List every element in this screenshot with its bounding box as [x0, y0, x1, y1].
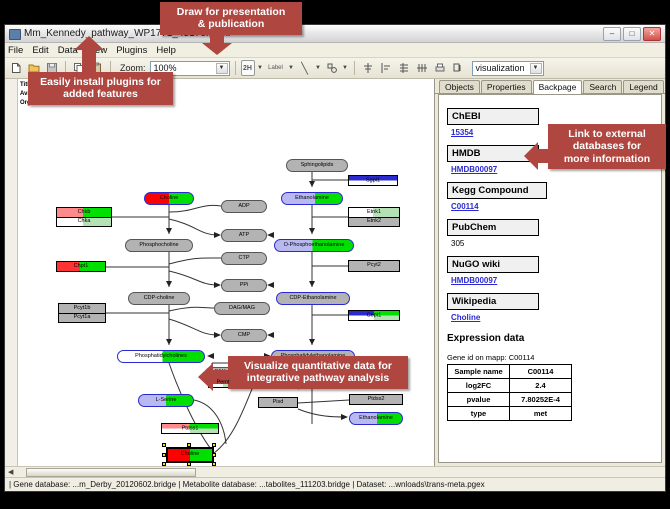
- node-atp[interactable]: ATP: [221, 229, 267, 242]
- node-ethanolamine-top[interactable]: Ethanolamine: [281, 192, 343, 205]
- node-ptdss2[interactable]: Ptdss2: [349, 394, 403, 405]
- shape-dropdown-icon[interactable]: ▼: [342, 65, 349, 71]
- gene-id-line: Gene id on mapp: C00114: [447, 353, 653, 362]
- menu-file[interactable]: File: [8, 45, 23, 56]
- resize-handle-nw[interactable]: [162, 443, 166, 447]
- table-row: pvalue 7.80252E-4: [448, 393, 572, 407]
- cell-value: 2.4: [510, 379, 572, 393]
- toolbar-separator-3: [235, 61, 236, 75]
- node-o-phosphoethanolamine[interactable]: O-Phosphoethanolamine: [274, 239, 354, 252]
- cell-value: 7.80252E-4: [510, 393, 572, 407]
- node-chpt1[interactable]: Chpt1: [56, 261, 106, 272]
- menu-edit[interactable]: Edit: [32, 45, 48, 56]
- table-row: type met: [448, 407, 572, 421]
- node-label: Phosphocholine: [139, 243, 178, 249]
- vertical-ruler: [5, 79, 18, 466]
- table-row: log2FC 2.4: [448, 379, 572, 393]
- callout-visualize-arrow: [198, 362, 230, 392]
- expression-data-heading: Expression data: [447, 333, 653, 344]
- node-label: Cept1: [367, 313, 382, 319]
- editor-pane: Title: Availa Organ: [5, 79, 435, 466]
- stack-icon[interactable]: [396, 60, 412, 76]
- callout-plugins-arrow: [72, 36, 106, 76]
- card-nugo-wiki: NuGO wiki: [447, 256, 539, 273]
- node-ppi[interactable]: PPi: [221, 279, 267, 292]
- line-dropdown-icon[interactable]: ▼: [315, 65, 322, 71]
- shape-tool-icon[interactable]: [324, 60, 340, 76]
- expression-table: Sample name C00114 log2FC 2.4 pvalue 7.8…: [447, 364, 572, 421]
- node-chkb[interactable]: Chkb: [56, 207, 112, 217]
- node-cdp-choline[interactable]: CDP-choline: [128, 292, 190, 305]
- callout-draw: Draw for presentation & publication: [160, 2, 302, 35]
- node-label: Etnk1: [367, 210, 381, 216]
- order-icon[interactable]: [450, 60, 466, 76]
- datanode-icon[interactable]: 2H: [241, 60, 255, 76]
- scroll-left-icon[interactable]: ◀: [5, 468, 16, 476]
- tab-legend[interactable]: Legend: [623, 80, 663, 93]
- node-phosphocholine[interactable]: Phosphocholine: [125, 239, 193, 252]
- menu-help[interactable]: Help: [156, 45, 176, 56]
- node-adp[interactable]: ADP: [221, 200, 267, 213]
- node-phosphatidylcholines[interactable]: Phosphatidylcholines: [117, 350, 205, 363]
- tab-backpage[interactable]: Backpage: [533, 80, 583, 94]
- label-tool-button[interactable]: Label: [266, 60, 286, 76]
- callout-visualize: Visualize quantitative data for integrat…: [228, 356, 408, 389]
- align-center-icon[interactable]: [360, 60, 376, 76]
- resize-handle-s[interactable]: [187, 462, 191, 466]
- pathway-edges: [18, 79, 434, 466]
- node-pisd[interactable]: Pisd: [258, 397, 298, 408]
- node-label: CDP-choline: [144, 296, 175, 302]
- cell-key: Sample name: [448, 365, 510, 379]
- cell-value: C00114: [510, 365, 572, 379]
- status-text: | Gene database: ...m_Derby_20120602.bri…: [9, 480, 485, 489]
- chevron-down-icon[interactable]: ▼: [216, 63, 228, 74]
- callout-text: Visualize quantitative data for integrat…: [244, 360, 392, 384]
- node-label: Ethanolamine: [359, 416, 393, 422]
- node-label: Ptdss1: [182, 426, 199, 432]
- tab-properties[interactable]: Properties: [481, 80, 532, 93]
- close-button[interactable]: ✕: [643, 27, 661, 41]
- resize-handle-w[interactable]: [162, 453, 166, 457]
- card-wikipedia: Wikipedia: [447, 293, 539, 310]
- line-tool-icon[interactable]: ╲: [297, 60, 313, 76]
- pathway-canvas[interactable]: Title: Availa Organ: [18, 79, 434, 466]
- node-l-serine-left[interactable]: L-Serine: [138, 394, 194, 407]
- node-sphingolipids[interactable]: Sphingolipids: [286, 159, 348, 172]
- node-label: Pcyt1b: [74, 306, 91, 312]
- callout-text: Draw for presentation & publication: [177, 6, 286, 30]
- node-label: Pisd: [273, 400, 284, 406]
- app-icon: [9, 28, 20, 39]
- callout-plugins: Easily install plugins for added feature…: [28, 72, 173, 105]
- node-ptdss1[interactable]: Ptdss1: [161, 423, 219, 434]
- visualization-chevron-icon[interactable]: ▼: [530, 63, 542, 74]
- node-cept1[interactable]: Cept1: [348, 310, 400, 321]
- node-cdp-ethanolamine[interactable]: CDP-Ethanolamine: [276, 292, 350, 305]
- node-label: Chpt1: [74, 264, 89, 270]
- link-kegg-compound[interactable]: C00114: [451, 202, 479, 211]
- node-label: O-Phosphoethanolamine: [284, 243, 345, 249]
- node-label: Choline: [181, 452, 200, 458]
- cell-key: pvalue: [448, 393, 510, 407]
- node-cmp[interactable]: CMP: [221, 329, 267, 342]
- node-label: Choline: [160, 196, 179, 202]
- scroll-thumb[interactable]: [26, 468, 196, 477]
- callout-links-arrow: [524, 140, 552, 172]
- maximize-button[interactable]: □: [623, 27, 641, 41]
- node-label: Pcyt2: [367, 263, 381, 269]
- node-pcyt2[interactable]: Pcyt2: [348, 260, 400, 272]
- callout-text: Link to external databases for more info…: [564, 128, 650, 165]
- link-nugo-wiki[interactable]: HMDB00097: [451, 276, 497, 285]
- window-controls: – □ ✕: [603, 27, 661, 41]
- node-ethanolamine-right[interactable]: Ethanolamine: [349, 412, 403, 425]
- resize-handle-se[interactable]: [212, 462, 216, 466]
- resize-handle-e[interactable]: [212, 453, 216, 457]
- datanode-dropdown-icon[interactable]: ▼: [257, 65, 264, 71]
- new-icon[interactable]: [8, 60, 24, 76]
- node-label: Sgpl1: [366, 178, 380, 184]
- tab-search[interactable]: Search: [583, 80, 622, 93]
- link-wikipedia[interactable]: Choline: [451, 313, 480, 322]
- print-icon[interactable]: [432, 60, 448, 76]
- resize-handle-ne[interactable]: [212, 443, 216, 447]
- node-etnk1[interactable]: Etnk1: [348, 207, 400, 217]
- node-label: Chka: [78, 219, 91, 225]
- value-pubchem: 305: [451, 239, 464, 248]
- node-choline-selected[interactable]: Choline: [166, 447, 214, 463]
- label-dropdown-icon[interactable]: ▼: [288, 65, 295, 71]
- node-label: L-Serine: [156, 398, 177, 404]
- card-pubchem: PubChem: [447, 219, 539, 236]
- link-hmdb[interactable]: HMDB00097: [451, 165, 497, 174]
- align-left-icon[interactable]: [378, 60, 394, 76]
- node-pcyt1a[interactable]: Pcyt1a: [58, 313, 106, 323]
- sidebar-tabs: Objects Properties Backpage Search Legen…: [435, 79, 665, 94]
- node-label: Phosphatidylcholines: [135, 354, 187, 360]
- node-sgpl1[interactable]: Sgpl1: [348, 175, 398, 186]
- resize-handle-sw[interactable]: [162, 462, 166, 466]
- horizontal-scrollbar[interactable]: ◀: [5, 466, 665, 477]
- toolbar-separator-4: [354, 61, 355, 75]
- menu-plugins[interactable]: Plugins: [116, 45, 147, 56]
- cell-key: type: [448, 407, 510, 421]
- callout-text: Easily install plugins for added feature…: [40, 76, 161, 100]
- callout-links: Link to external databases for more info…: [548, 124, 666, 169]
- callout-draw-arrow: [200, 34, 234, 56]
- minimize-button[interactable]: –: [603, 27, 621, 41]
- node-label: CDP-Ethanolamine: [289, 296, 336, 302]
- resize-handle-n[interactable]: [187, 443, 191, 447]
- node-label: Pcyt1a: [74, 315, 91, 321]
- node-dag-mag[interactable]: DAG/MAG: [214, 302, 270, 315]
- node-label: Ethanolamine: [295, 196, 329, 202]
- card-chebi: ChEBI: [447, 108, 539, 125]
- distribute-icon[interactable]: [414, 60, 430, 76]
- status-bar: | Gene database: ...m_Derby_20120602.bri…: [5, 477, 665, 491]
- link-chebi[interactable]: 15354: [451, 128, 473, 137]
- node-chka[interactable]: Chka: [56, 217, 112, 227]
- node-label: Pemt: [217, 380, 230, 386]
- node-label: Etnk2: [367, 219, 381, 225]
- node-ctp[interactable]: CTP: [221, 252, 267, 265]
- node-pcyt1b[interactable]: Pcyt1b: [58, 303, 106, 313]
- visualization-combo[interactable]: visualization ▼: [472, 61, 544, 76]
- node-etnk2[interactable]: Etnk2: [348, 217, 400, 227]
- node-label: Chkb: [78, 210, 91, 216]
- tab-objects[interactable]: Objects: [439, 80, 480, 93]
- cell-value: met: [510, 407, 572, 421]
- table-row: Sample name C00114: [448, 365, 572, 379]
- card-kegg-compound: Kegg Compound: [447, 182, 547, 199]
- cell-key: log2FC: [448, 379, 510, 393]
- visualization-value: visualization: [476, 63, 525, 73]
- node-label: Ptdss2: [368, 397, 385, 403]
- node-choline-top[interactable]: Choline: [144, 192, 194, 205]
